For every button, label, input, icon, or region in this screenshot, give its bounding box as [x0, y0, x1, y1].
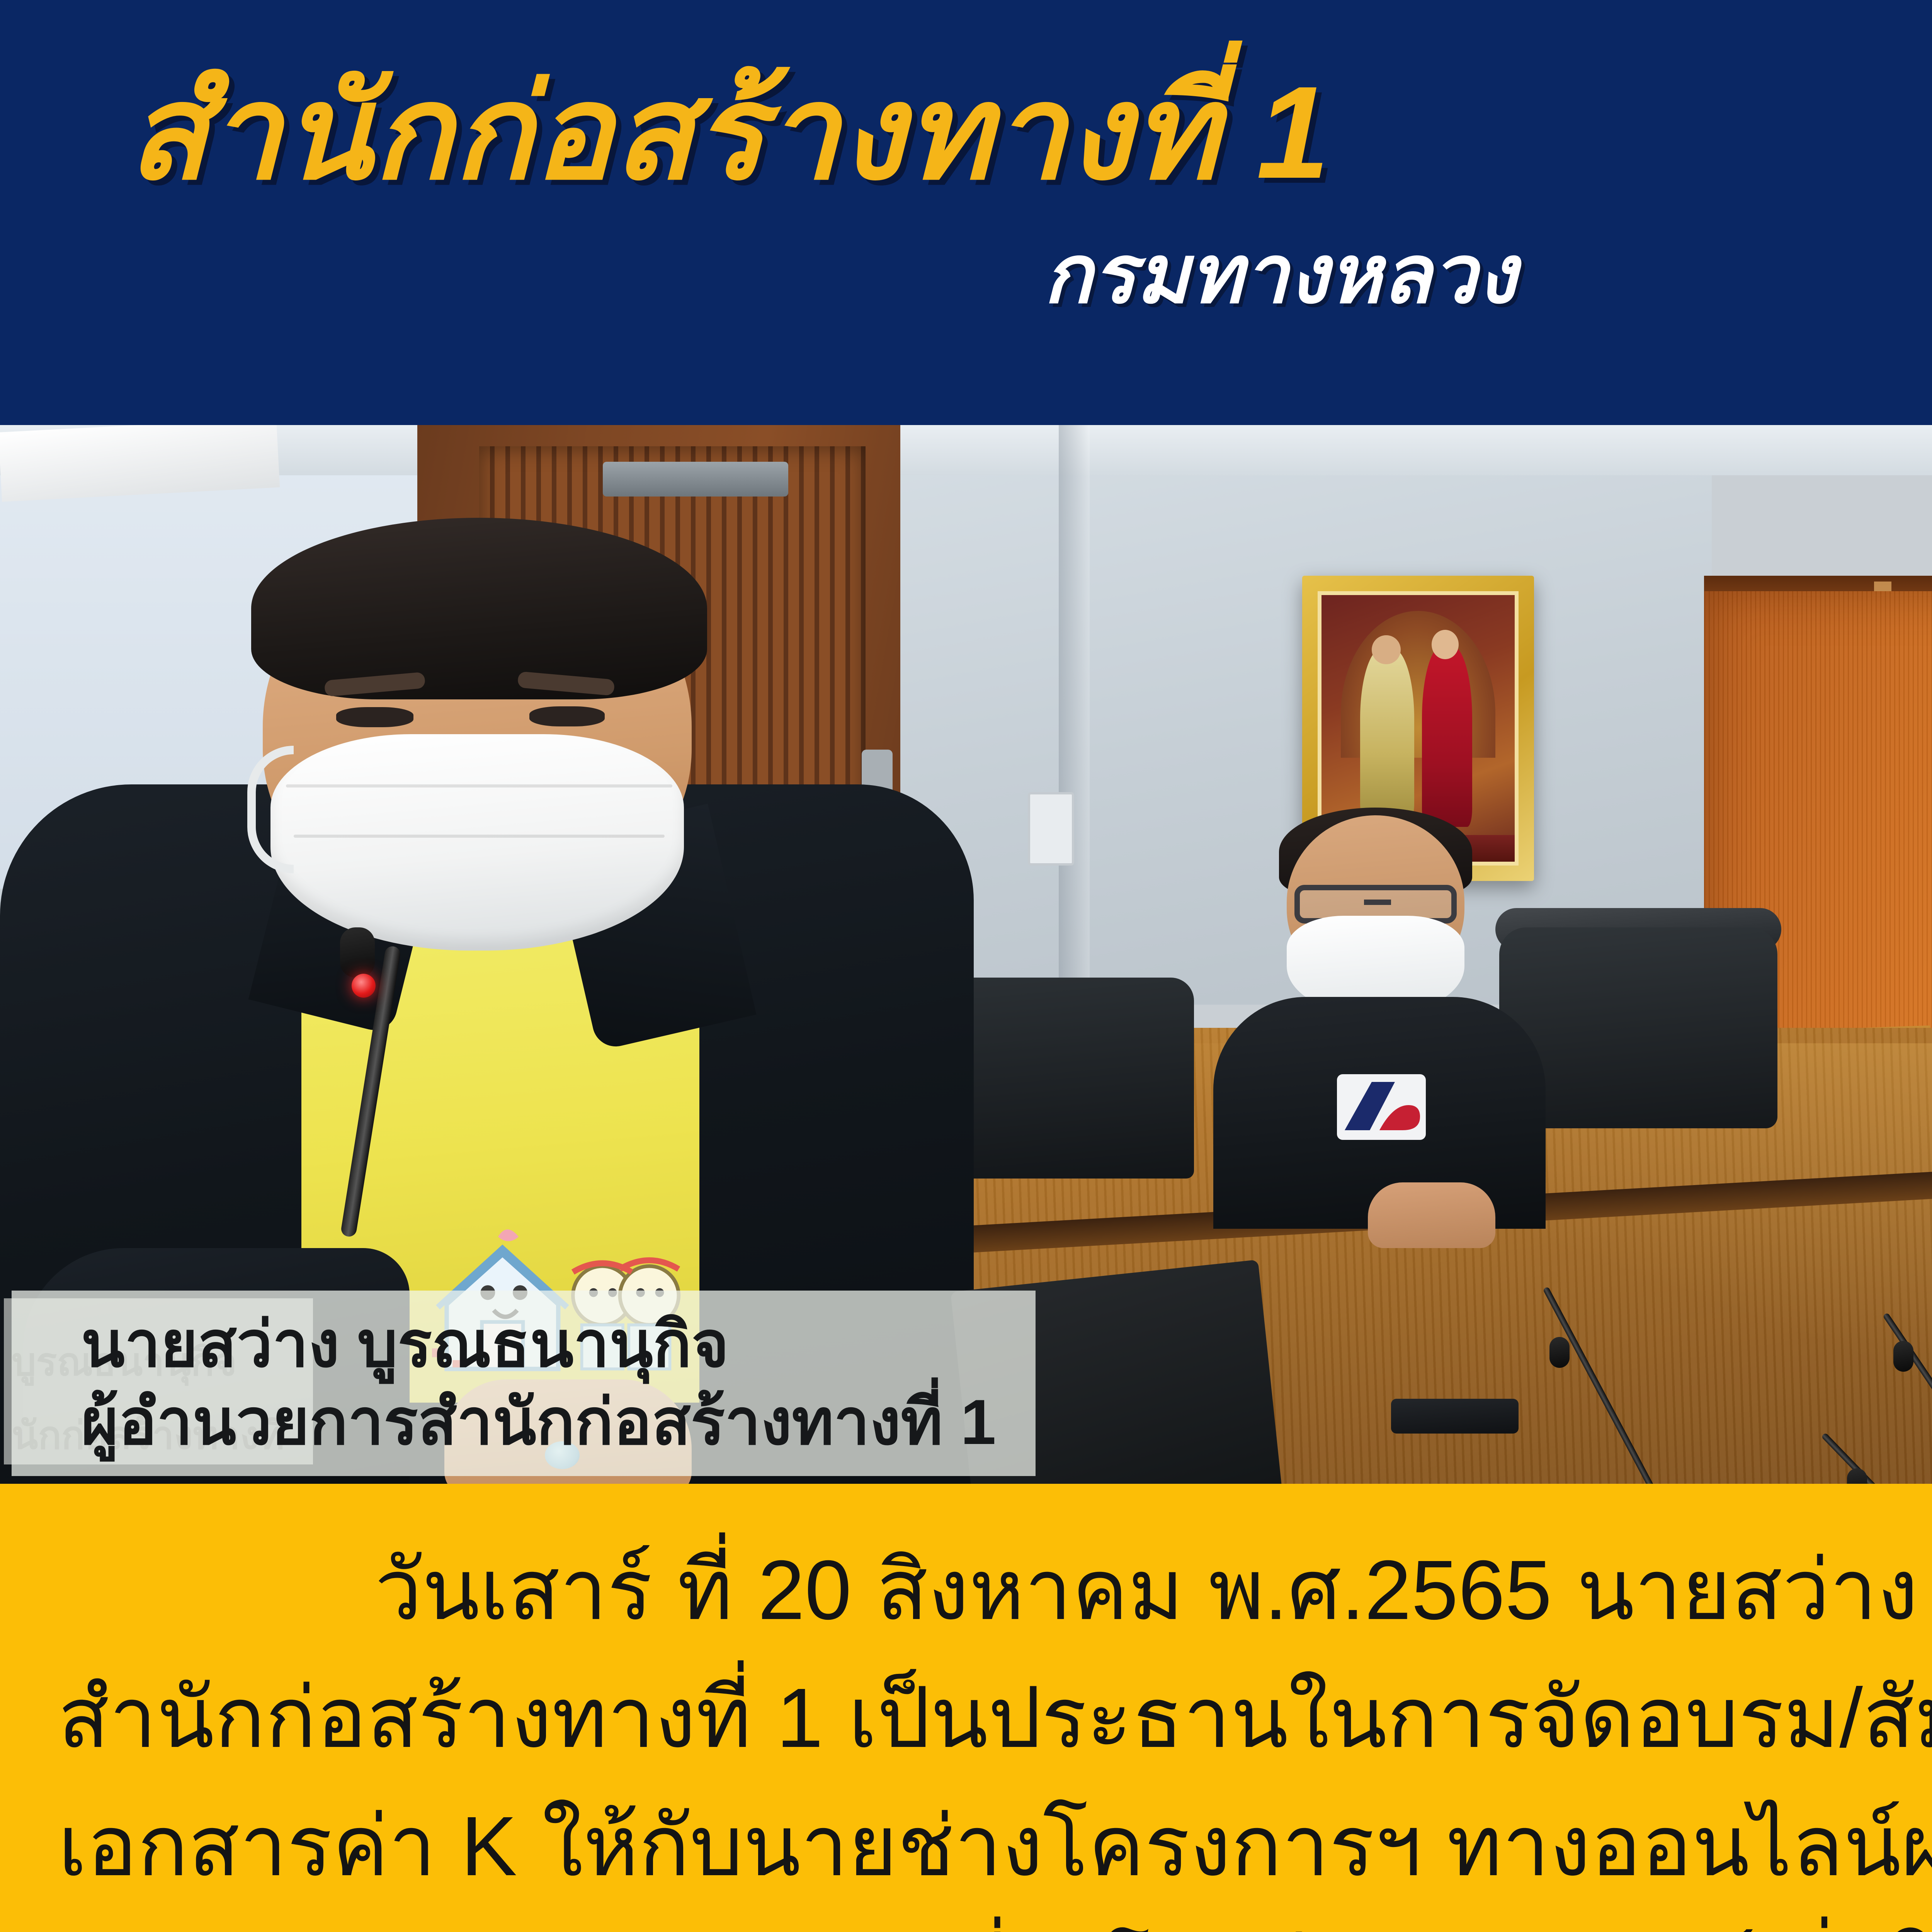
mobile-phone [1391, 1399, 1519, 1434]
meeting-photo: กรมทางหลวง สำนักก่อสร้างทางที่ 1 [0, 425, 1932, 1484]
presenter-microphone-led [352, 974, 376, 998]
person-middle-hands [1368, 1182, 1495, 1248]
description-paragraph: วันเสาร์ ที่ 20 สิงหาคม พ.ศ.2565 นายสว่า… [58, 1526, 1932, 1932]
person-middle-glasses-bridge [1364, 900, 1391, 905]
light-switch-plate [1028, 792, 1074, 866]
caption-person-position: ผู้อำนวยการสำนักก่อสร้างทางที่ 1 [81, 1383, 1036, 1461]
portrait-king-head [1372, 635, 1401, 665]
photo-caption-overlay: นายสว่าง บูรณธนานุกิจ ผู้อำนวยการสำนักก่… [12, 1291, 1036, 1476]
portrait-figure-king [1360, 648, 1414, 824]
poster-header: สำนักก่อสร้างทางที่ 1 กรมทางหลวง [0, 0, 1932, 425]
portrait-queen-head [1432, 630, 1459, 659]
mic-capsule [1893, 1341, 1913, 1372]
presenter-face-mask [270, 734, 684, 951]
person-middle [1198, 815, 1561, 1225]
mask-fold-1 [286, 784, 672, 787]
ceiling-band [0, 425, 1932, 475]
header-diagonal-bright-yellow [1870, 0, 1932, 425]
tshirt-logo [1333, 1070, 1430, 1144]
presenter-microphone-capsule [340, 927, 375, 978]
presenter-hair [251, 518, 707, 699]
presenter-eye-right [529, 706, 605, 726]
poster-root: สำนักก่อสร้างทางที่ 1 กรมทางหลวง [0, 0, 1932, 1932]
door-closer [603, 462, 788, 497]
mic-capsule [1549, 1337, 1570, 1368]
table-microphone-3 [1604, 1468, 1766, 1484]
page-subtitle: กรมทางหลวง [1043, 232, 1517, 317]
description-panel: วันเสาร์ ที่ 20 สิงหาคม พ.ศ.2565 นายสว่า… [0, 1484, 1932, 1932]
presenter-eye-left [336, 707, 413, 727]
mask-fold-2 [294, 835, 665, 838]
page-title: สำนักก่อสร้างทางที่ 1 [128, 64, 1330, 202]
portrait-figure-queen [1422, 646, 1472, 827]
caption-person-name: นายสว่าง บูรณธนานุกิจ [81, 1306, 1036, 1383]
wall-corner-highlight [1059, 425, 1090, 1005]
